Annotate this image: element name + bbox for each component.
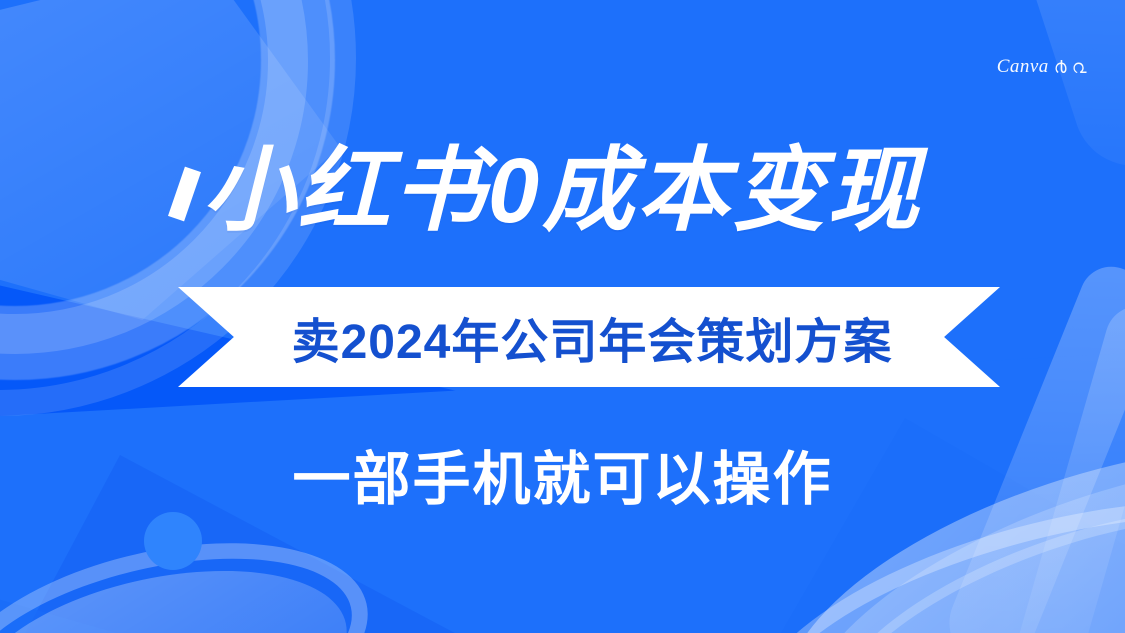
spiral-icon-two: ൨ (1072, 58, 1087, 77)
subtitle-text: 一部手机就可以操作 (0, 432, 1125, 516)
canva-wordmark: Canva (997, 56, 1049, 78)
diagonal-wedge-left-edge (0, 505, 170, 633)
canva-watermark: Canva ൪ ൨ (997, 56, 1087, 78)
poster-canvas: Canva ൪ ൨ 小红书0成本变现 卖2024年公司年会策划方案 一部手机就可… (0, 0, 1125, 633)
ellipse-shape-bottom-left-two (0, 540, 364, 633)
circle-accent-bottom-left (144, 512, 202, 570)
page-title: 小红书0成本变现 (0, 141, 1125, 242)
ribbon-label: 卖2024年公司年会策划方案 (286, 302, 893, 372)
ribbon-banner: 卖2024年公司年会策划方案 (178, 287, 1000, 387)
ellipse-ring-bottom-left-one (0, 506, 389, 633)
spiral-icon-one: ൪ (1054, 58, 1067, 77)
